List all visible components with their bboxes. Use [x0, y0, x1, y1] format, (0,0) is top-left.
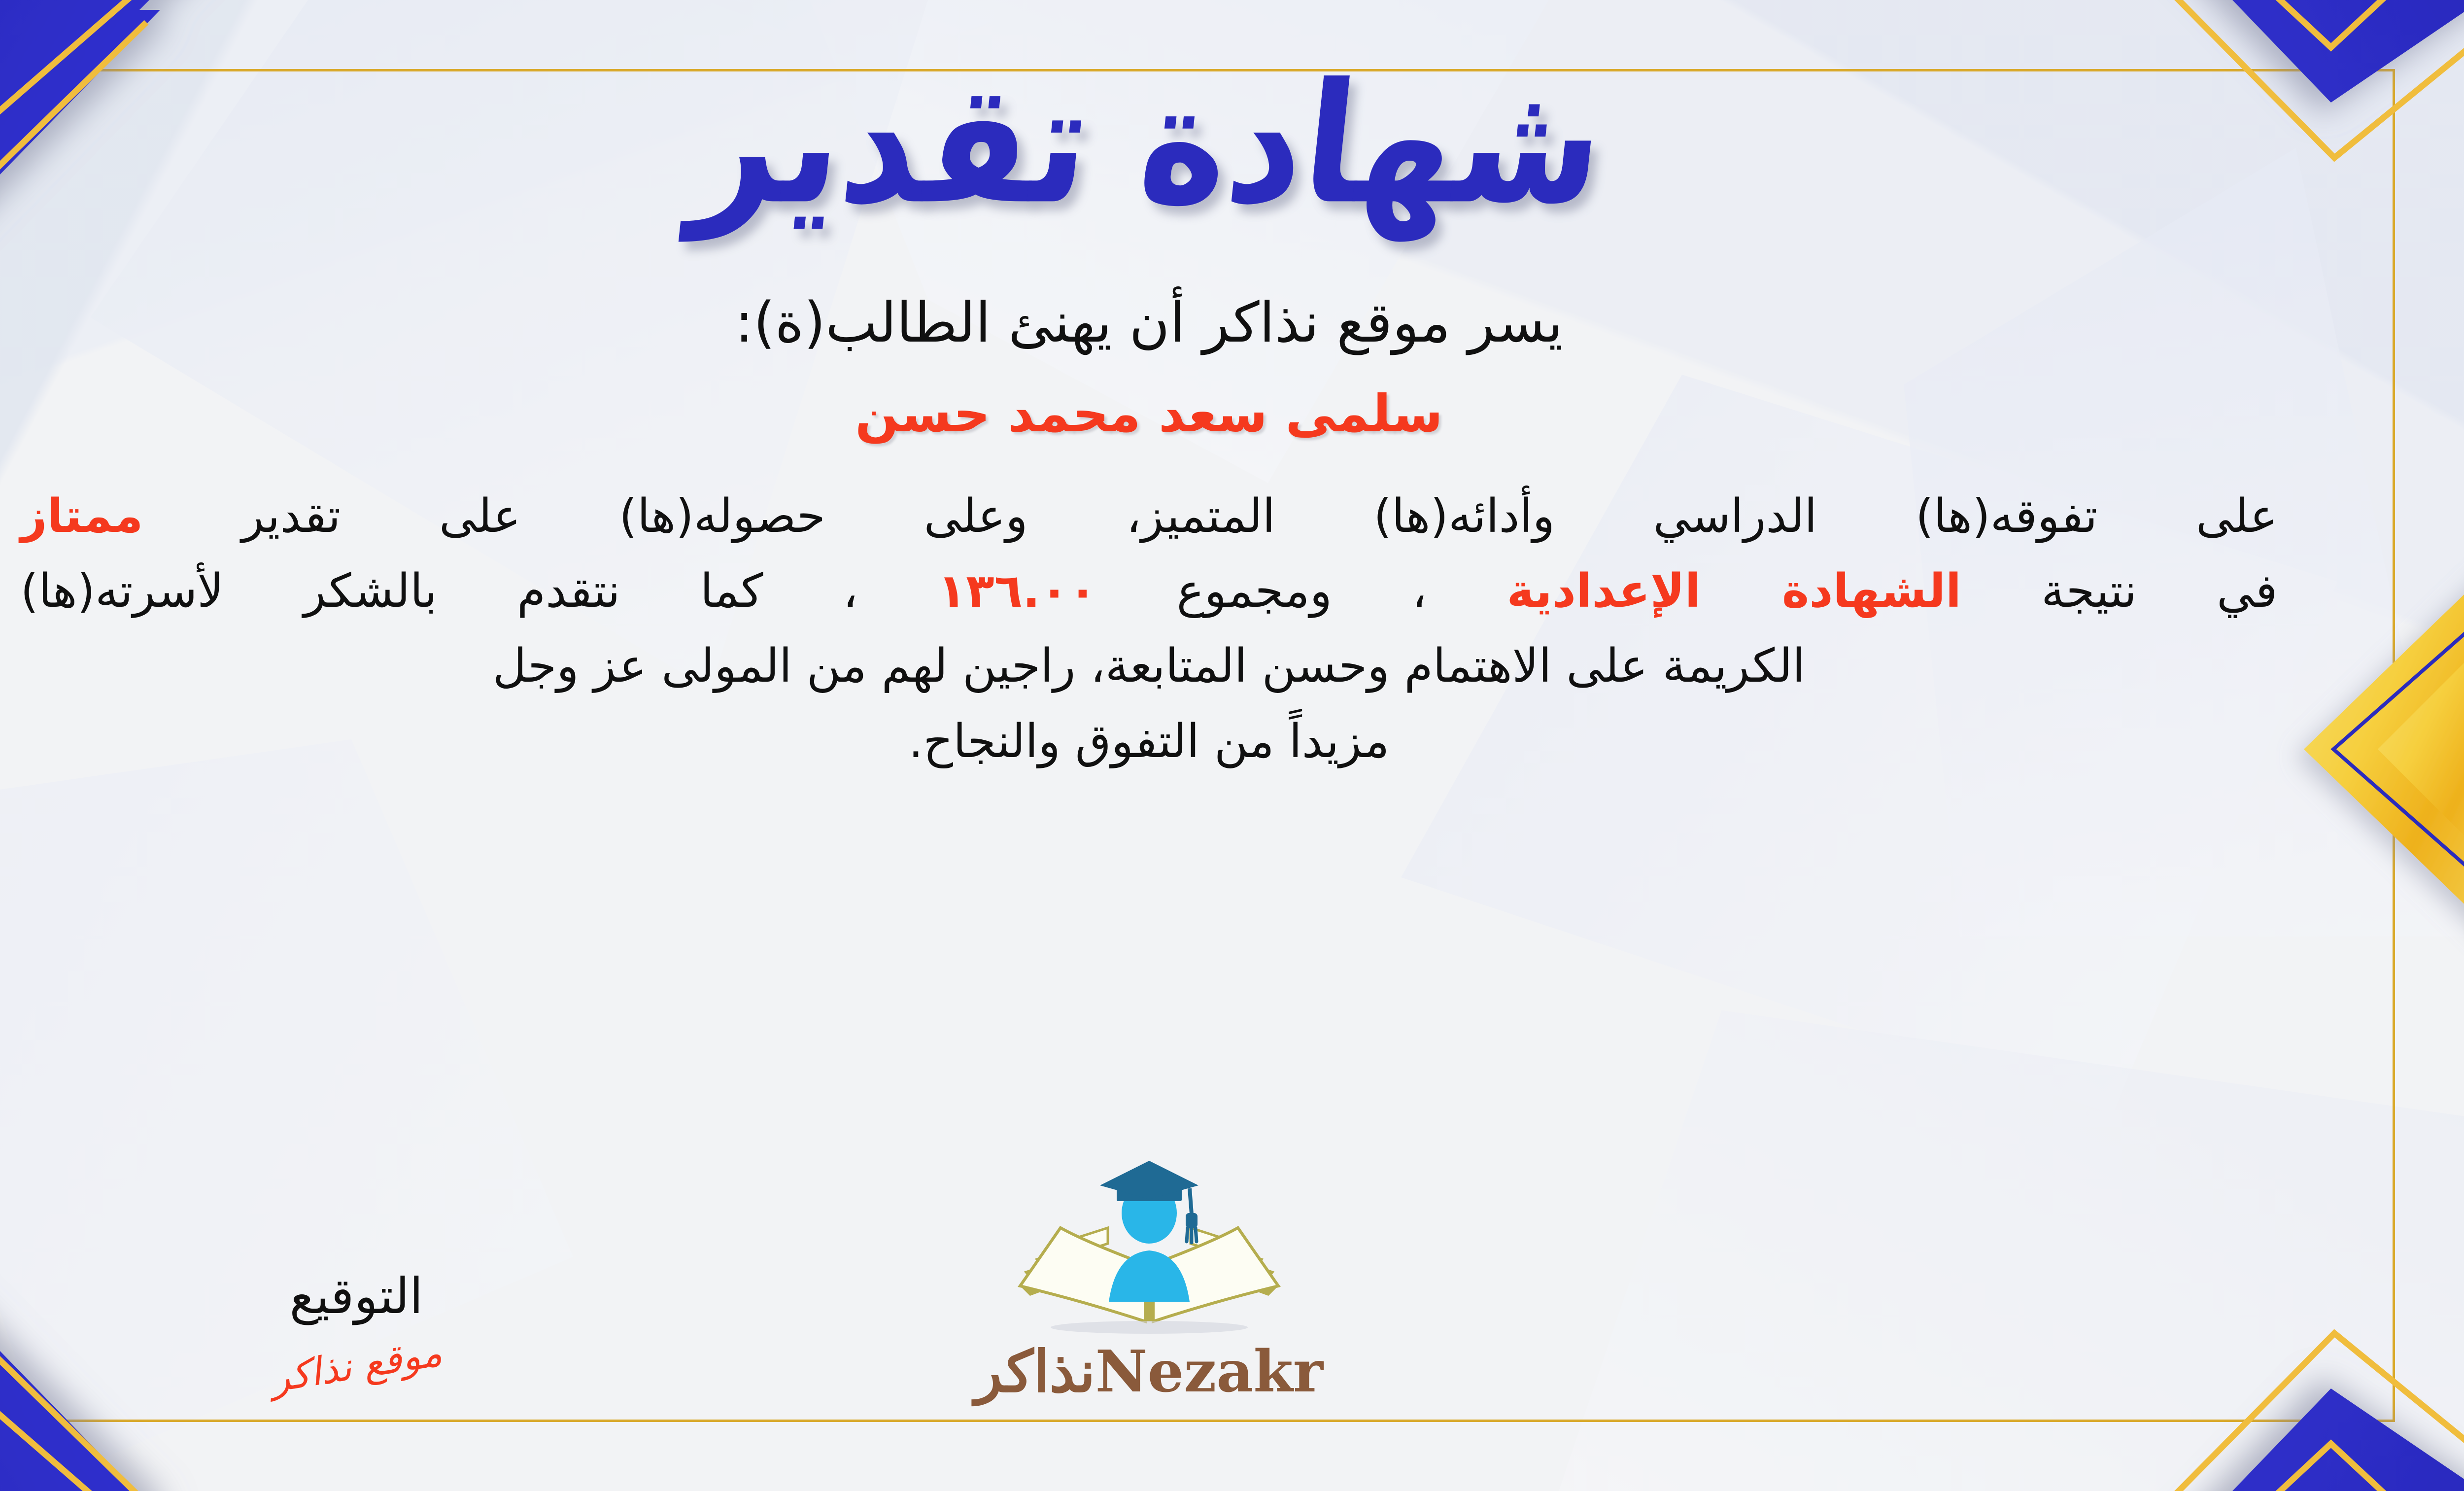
- signature-block: التوقيع موقع نذاكر: [199, 1269, 514, 1387]
- body-line-3: الكريمة على الاهتمام وحسن المتابعة، راجي…: [21, 629, 2278, 704]
- student-name: سلمى سعد محمد حسن: [855, 383, 1443, 445]
- body-line-4: مزيداً من التفوق والنجاح.: [21, 704, 2278, 779]
- signature-label: التوقيع: [199, 1269, 514, 1323]
- body-text-achievement: على تفوقه(ها) الدراسي وأدائه(ها) المتميز…: [241, 489, 2277, 543]
- brand-name: Nezakrنذاكر: [937, 1342, 1361, 1402]
- graduate-open-book-icon: [1011, 1154, 1287, 1351]
- total-score: ١٣٦.٠٠: [938, 564, 1097, 618]
- intro-line: يسر موقع نذاكر أن يهنئ الطالب(ة):: [735, 288, 1563, 357]
- body-text-in-result-of: في نتيجة: [2041, 564, 2277, 618]
- exam-name: الشهادة الإعدادية: [1506, 564, 1961, 618]
- certificate-title: شهادة تقدير: [685, 49, 1613, 239]
- body-text-thanks: ، كما نتقدم بالشكر لأسرته(ها): [21, 564, 858, 618]
- certificate-content: شهادة تقدير يسر موقع نذاكر أن يهنئ الطال…: [0, 0, 2464, 1491]
- body-line-2: في نتيجة الشهادة الإعدادية ، ومجموع ١٣٦.…: [21, 554, 2278, 629]
- certificate-body: على تفوقه(ها) الدراسي وأدائه(ها) المتميز…: [21, 479, 2278, 779]
- grade-value: ممتاز: [21, 489, 143, 543]
- body-text-and-total: ، ومجموع: [1177, 564, 1427, 618]
- brand-logo-block: Nezakrنذاكر: [937, 1154, 1361, 1402]
- certificate-page: شهادة تقدير يسر موقع نذاكر أن يهنئ الطال…: [0, 0, 2464, 1491]
- signature-mark: موقع نذاكر: [268, 1332, 445, 1401]
- body-line-1: على تفوقه(ها) الدراسي وأدائه(ها) المتميز…: [21, 479, 2278, 554]
- certificate-footer: التوقيع موقع نذاكر: [0, 1102, 2464, 1407]
